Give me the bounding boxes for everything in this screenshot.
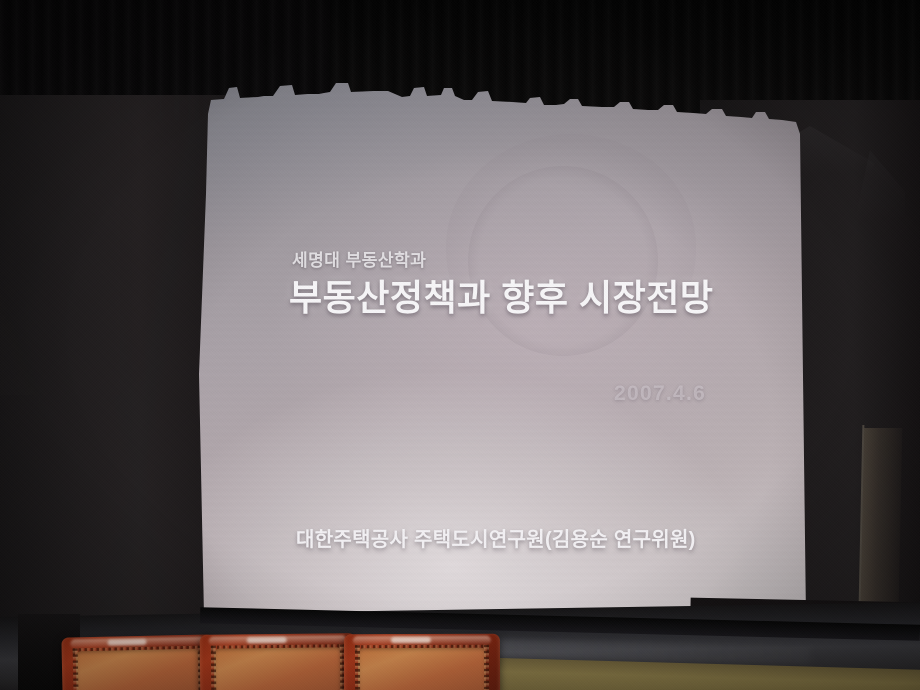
curtain-left (0, 95, 225, 655)
auditorium-scene: 세명대 부동산학과 부동산정책과 향후 시장전망 2007.4.6 대한주택공사… (0, 0, 920, 690)
audience-chair-center (200, 633, 357, 690)
chair-leather-pad (75, 649, 201, 690)
projection-screen: 세명대 부동산학과 부동산정책과 향후 시장전망 2007.4.6 대한주택공사… (196, 74, 806, 646)
chair-leather-pad (214, 647, 342, 690)
chair-stud-column-right (484, 645, 489, 690)
chair-frame (200, 633, 357, 690)
audience-chair-left (61, 634, 214, 690)
screen-vignette (196, 74, 806, 646)
audience-chair-right (344, 634, 500, 690)
chair-highlight (247, 637, 288, 643)
chair-stud-column-left (211, 646, 217, 690)
chair-leather-pad (358, 648, 486, 690)
chair-frame (344, 634, 500, 690)
chair-highlight (107, 639, 147, 646)
chair-highlight (391, 637, 432, 643)
chair-stud-column-left (72, 648, 78, 690)
chair-frame (61, 634, 214, 690)
chair-stud-column-left (355, 645, 360, 690)
